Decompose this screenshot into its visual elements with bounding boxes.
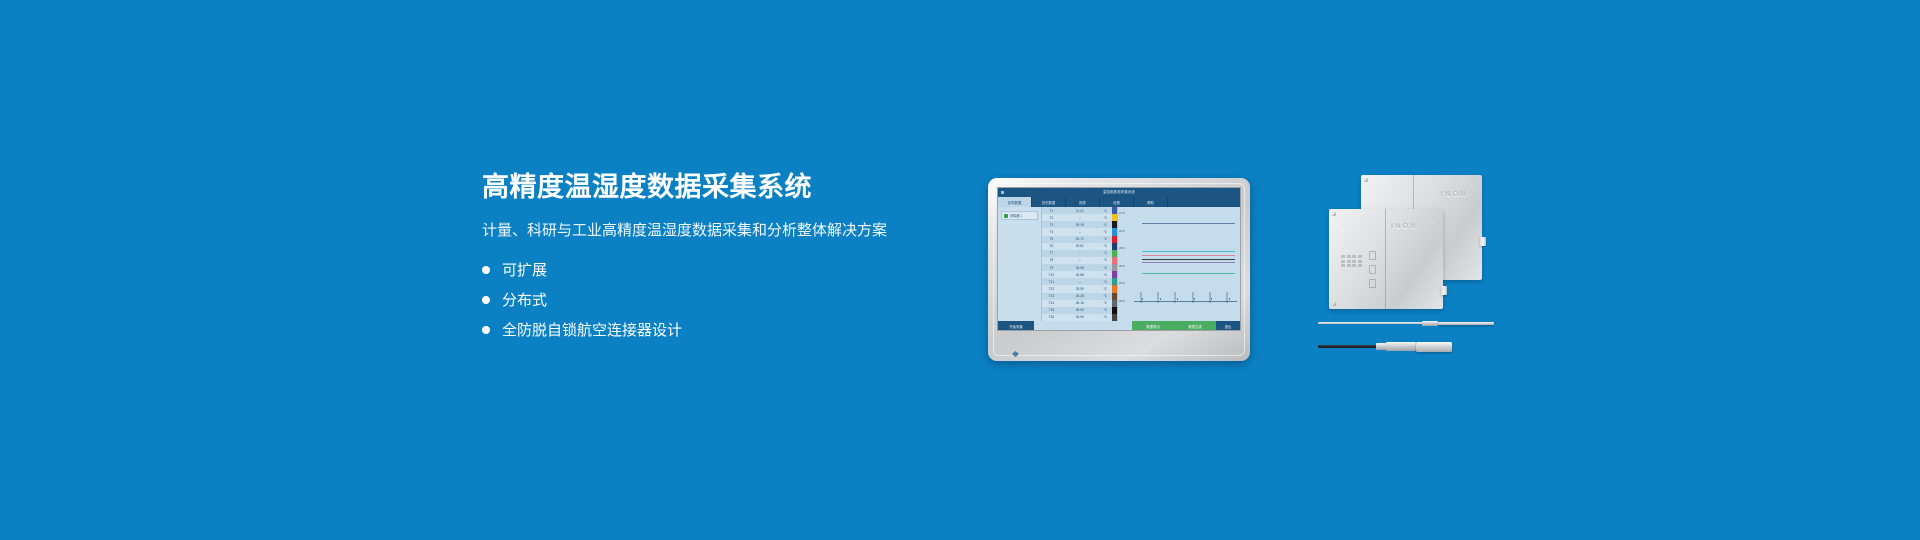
- channel-value: --: [1061, 278, 1099, 285]
- app-titlebar: 温湿度数据采集系统: [998, 188, 1240, 197]
- channel-value: 26.94: [1061, 314, 1099, 321]
- table-row[interactable]: T326.19℃: [1042, 221, 1112, 228]
- table-row[interactable]: T926.98℃: [1042, 264, 1112, 271]
- app-tabbar: 实时数据 历史数据 报表 设置 帮助: [998, 197, 1240, 207]
- channel-name: T16: [1042, 314, 1061, 321]
- exit-button[interactable]: 退出: [1216, 321, 1240, 331]
- monitor-chin: [988, 345, 1250, 361]
- banner-copy: 高精度温湿度数据采集系统 计量、科研与工业高精度温湿度数据采集和分析整体解决方案…: [482, 172, 952, 353]
- x-axis-tick-label: 14:25:00: [1157, 293, 1160, 303]
- channel-value: 20.72: [1061, 236, 1099, 243]
- channel-value: 26.98: [1061, 264, 1099, 271]
- channel-name: T8: [1042, 257, 1061, 264]
- sidebar-item-device[interactable]: 采集器 1: [1001, 211, 1038, 220]
- channel-name: T2: [1042, 214, 1061, 221]
- chart-x-axis: 14:20:0014:25:0014:30:0014:35:0014:40:00…: [1134, 301, 1237, 302]
- channel-unit: ℃: [1099, 250, 1112, 257]
- trend-line: [1142, 223, 1235, 224]
- monitor-bezel: 温湿度数据采集系统 实时数据 历史数据 报表 设置 帮助: [988, 178, 1250, 361]
- monitor-brand-icon: [1012, 351, 1019, 357]
- tab-help[interactable]: 帮助: [1134, 197, 1168, 207]
- channel-value: 26.28: [1061, 293, 1099, 300]
- channel-name: T1: [1042, 207, 1061, 214]
- channel-unit: ℃: [1099, 307, 1112, 314]
- feature-item-1: 可扩展: [482, 263, 952, 278]
- probe-product-image: [1318, 310, 1498, 365]
- channel-name: T5: [1042, 236, 1061, 243]
- table-row[interactable]: T1326.28℃: [1042, 293, 1112, 300]
- trend-line: [1142, 259, 1235, 260]
- temperature-probe-stainless: [1318, 320, 1498, 326]
- channel-value: 26.19: [1061, 221, 1099, 228]
- bullet-dot-icon: [482, 326, 490, 334]
- table-row[interactable]: T620.61℃: [1042, 243, 1112, 250]
- acquisition-module-front: INON: [1329, 209, 1443, 309]
- tab-realtime-data[interactable]: 实时数据: [998, 197, 1032, 207]
- x-axis-tick-label: 14:35:00: [1192, 293, 1195, 303]
- channel-name: T9: [1042, 264, 1061, 271]
- bullet-dot-icon: [482, 296, 490, 304]
- y-axis-tick-label: 27.0: [1119, 211, 1125, 215]
- module-brand-label: INON: [1391, 223, 1418, 230]
- channel-unit: ℃: [1099, 293, 1112, 300]
- connector-port: [1441, 286, 1447, 295]
- channel-unit: ℃: [1099, 243, 1112, 250]
- module-brand-label: INON: [1441, 191, 1468, 198]
- y-axis-tick-label: 25.0: [1119, 281, 1125, 285]
- export-data-button[interactable]: 数据导出: [1132, 321, 1174, 331]
- channel-data-table: T121.01℃T2--℃T326.19℃T4--℃T520.72℃T620.6…: [1042, 207, 1112, 321]
- table-row[interactable]: T11--℃: [1042, 278, 1112, 285]
- channel-name: T15: [1042, 307, 1061, 314]
- feature-item-2: 分布式: [482, 293, 952, 308]
- page-subtitle: 计量、科研与工业高精度温湿度数据采集和分析整体解决方案: [482, 221, 952, 241]
- x-axis-tick-label: 14:45:00: [1226, 293, 1229, 303]
- y-axis-tick-label: 20.5: [1119, 299, 1125, 303]
- table-row[interactable]: T1026.88℃: [1042, 271, 1112, 278]
- channel-value: 21.01: [1061, 207, 1099, 214]
- feature-label: 可扩展: [502, 263, 547, 278]
- channel-unit: ℃: [1099, 236, 1112, 243]
- channel-name: T7: [1042, 250, 1061, 257]
- channel-name: T13: [1042, 293, 1061, 300]
- feature-list: 可扩展 分布式 全防脱自锁航空连接器设计: [482, 263, 952, 338]
- channel-value: 26.90: [1061, 307, 1099, 314]
- channel-value: --: [1061, 250, 1099, 257]
- feature-label: 分布式: [502, 293, 547, 308]
- table-row[interactable]: T121.01℃: [1042, 207, 1112, 214]
- channel-name: T14: [1042, 300, 1061, 307]
- generate-report-button[interactable]: 报表生成: [1174, 321, 1216, 331]
- app-title: 温湿度数据采集系统: [998, 188, 1240, 197]
- y-axis-tick-label: 26.5: [1119, 229, 1125, 233]
- trend-chart: 27.026.526.025.525.020.5 14:20:0014:25:0…: [1117, 207, 1240, 321]
- y-axis-tick-label: 25.5: [1119, 264, 1125, 268]
- app-body: 采集器 1 T121.01℃T2--℃T326.19℃T4--℃T520.72℃…: [998, 207, 1240, 321]
- screw-icon: [1332, 302, 1336, 306]
- page-title: 高精度温湿度数据采集系统: [482, 172, 952, 203]
- table-row[interactable]: T2--℃: [1042, 214, 1112, 221]
- table-row[interactable]: T520.72℃: [1042, 236, 1112, 243]
- channel-unit: ℃: [1099, 257, 1112, 264]
- trend-line: [1142, 251, 1235, 252]
- channel-value: 20.61: [1061, 243, 1099, 250]
- x-axis-tick-label: 14:40:00: [1209, 293, 1212, 303]
- keypad-icon: [1341, 255, 1362, 267]
- aviation-connector-shell: [1416, 342, 1452, 352]
- tab-report[interactable]: 报表: [1066, 197, 1100, 207]
- channel-value: 26.15: [1061, 300, 1099, 307]
- table-row[interactable]: T1526.90℃: [1042, 307, 1112, 314]
- connector-port: [1480, 237, 1486, 246]
- table-row[interactable]: T1225.90℃: [1042, 285, 1112, 292]
- channel-unit: ℃: [1099, 285, 1112, 292]
- table-row[interactable]: T1626.94℃: [1042, 314, 1112, 321]
- start-acquisition-button[interactable]: 开始采集: [998, 321, 1034, 331]
- channel-unit: ℃: [1099, 228, 1112, 235]
- channel-unit: ℃: [1099, 207, 1112, 214]
- channel-name: T12: [1042, 285, 1061, 292]
- channel-name: T6: [1042, 243, 1061, 250]
- monitor-product-image: 温湿度数据采集系统 实时数据 历史数据 报表 设置 帮助: [988, 178, 1250, 361]
- screw-icon: [1364, 178, 1368, 182]
- y-axis-tick-label: 26.0: [1119, 246, 1125, 250]
- monitor-screen: 温湿度数据采集系统 实时数据 历史数据 报表 设置 帮助: [997, 187, 1241, 331]
- table-row[interactable]: T1426.15℃: [1042, 300, 1112, 307]
- table-row[interactable]: T4--℃: [1042, 228, 1112, 235]
- channel-unit: ℃: [1099, 221, 1112, 228]
- trend-line: [1142, 255, 1235, 256]
- probe-cable: [1318, 345, 1380, 348]
- aviation-connector-body: [1386, 342, 1416, 351]
- bullet-dot-icon: [482, 266, 490, 274]
- probe-sheath: [1318, 322, 1426, 324]
- tab-history-data[interactable]: 历史数据: [1032, 197, 1066, 207]
- feature-label: 全防脱自锁航空连接器设计: [502, 323, 682, 338]
- table-row[interactable]: T7--℃: [1042, 250, 1112, 257]
- channel-unit: ℃: [1099, 214, 1112, 221]
- channel-unit: ℃: [1099, 300, 1112, 307]
- screw-icon: [1332, 212, 1336, 216]
- app-statusbar: 开始采集 数据导出 报表生成 退出: [998, 321, 1240, 331]
- channel-unit: ℃: [1099, 264, 1112, 271]
- channel-value: 25.90: [1061, 285, 1099, 292]
- trend-line: [1142, 262, 1235, 263]
- port-group-icon: [1369, 251, 1376, 288]
- sidebar-item-label: 采集器 1: [1010, 213, 1022, 218]
- device-tree-sidebar: 采集器 1: [998, 207, 1042, 321]
- probe-strain-relief: [1376, 343, 1386, 350]
- probe-collar: [1422, 321, 1438, 326]
- tab-settings[interactable]: 设置: [1100, 197, 1134, 207]
- channel-name: T11: [1042, 278, 1061, 285]
- device-icon: [1004, 214, 1008, 218]
- product-banner: 高精度温湿度数据采集系统 计量、科研与工业高精度温湿度数据采集和分析整体解决方案…: [0, 0, 1920, 540]
- table-row[interactable]: T8--℃: [1042, 257, 1112, 264]
- channel-unit: ℃: [1099, 314, 1112, 321]
- temperature-probe-aviation-connector: [1318, 341, 1498, 351]
- channel-name: T10: [1042, 271, 1061, 278]
- probe-tip: [1438, 322, 1494, 325]
- x-axis-tick-label: 14:20:00: [1140, 293, 1143, 303]
- feature-item-3: 全防脱自锁航空连接器设计: [482, 323, 952, 338]
- channel-name: T4: [1042, 228, 1061, 235]
- chart-y-axis: 27.026.526.025.525.020.5: [1118, 207, 1134, 321]
- statusbar-spacer: [1034, 321, 1132, 331]
- channel-unit: ℃: [1099, 278, 1112, 285]
- trend-line: [1142, 273, 1235, 274]
- chart-plot-area: [1134, 211, 1237, 299]
- x-axis-tick-label: 14:30:00: [1174, 293, 1177, 303]
- module-seam-line: [1385, 209, 1386, 309]
- channel-value: --: [1061, 228, 1099, 235]
- channel-name: T3: [1042, 221, 1061, 228]
- channel-value: --: [1061, 214, 1099, 221]
- channel-unit: ℃: [1099, 271, 1112, 278]
- channel-value: 26.88: [1061, 271, 1099, 278]
- channel-value: --: [1061, 257, 1099, 264]
